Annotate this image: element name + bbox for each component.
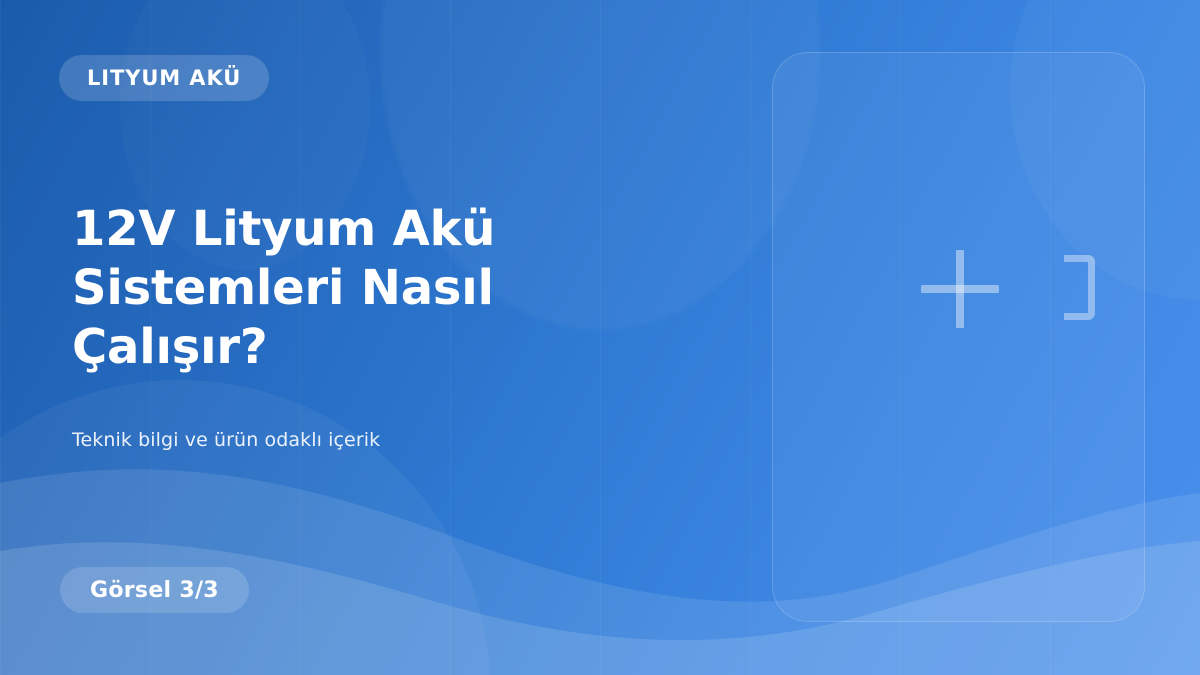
page-title: 12V Lityum Akü Sistemleri Nasıl Çalışır? [72, 200, 632, 377]
category-badge: LITYUM AKÜ [59, 55, 269, 101]
plus-icon [921, 250, 999, 328]
slide-counter-badge: Görsel 3/3 [60, 567, 249, 613]
battery-terminal-icon [1064, 255, 1095, 320]
slide-canvas: LITYUM AKÜ 12V Lityum Akü Sistemleri Nas… [0, 0, 1200, 675]
content-column: LITYUM AKÜ 12V Lityum Akü Sistemleri Nas… [72, 0, 692, 675]
product-visual-card [772, 52, 1145, 622]
slide-counter-label: Görsel 3/3 [90, 578, 219, 603]
page-subtitle: Teknik bilgi ve ürün odaklı içerik [72, 429, 380, 451]
category-badge-label: LITYUM AKÜ [87, 66, 241, 90]
